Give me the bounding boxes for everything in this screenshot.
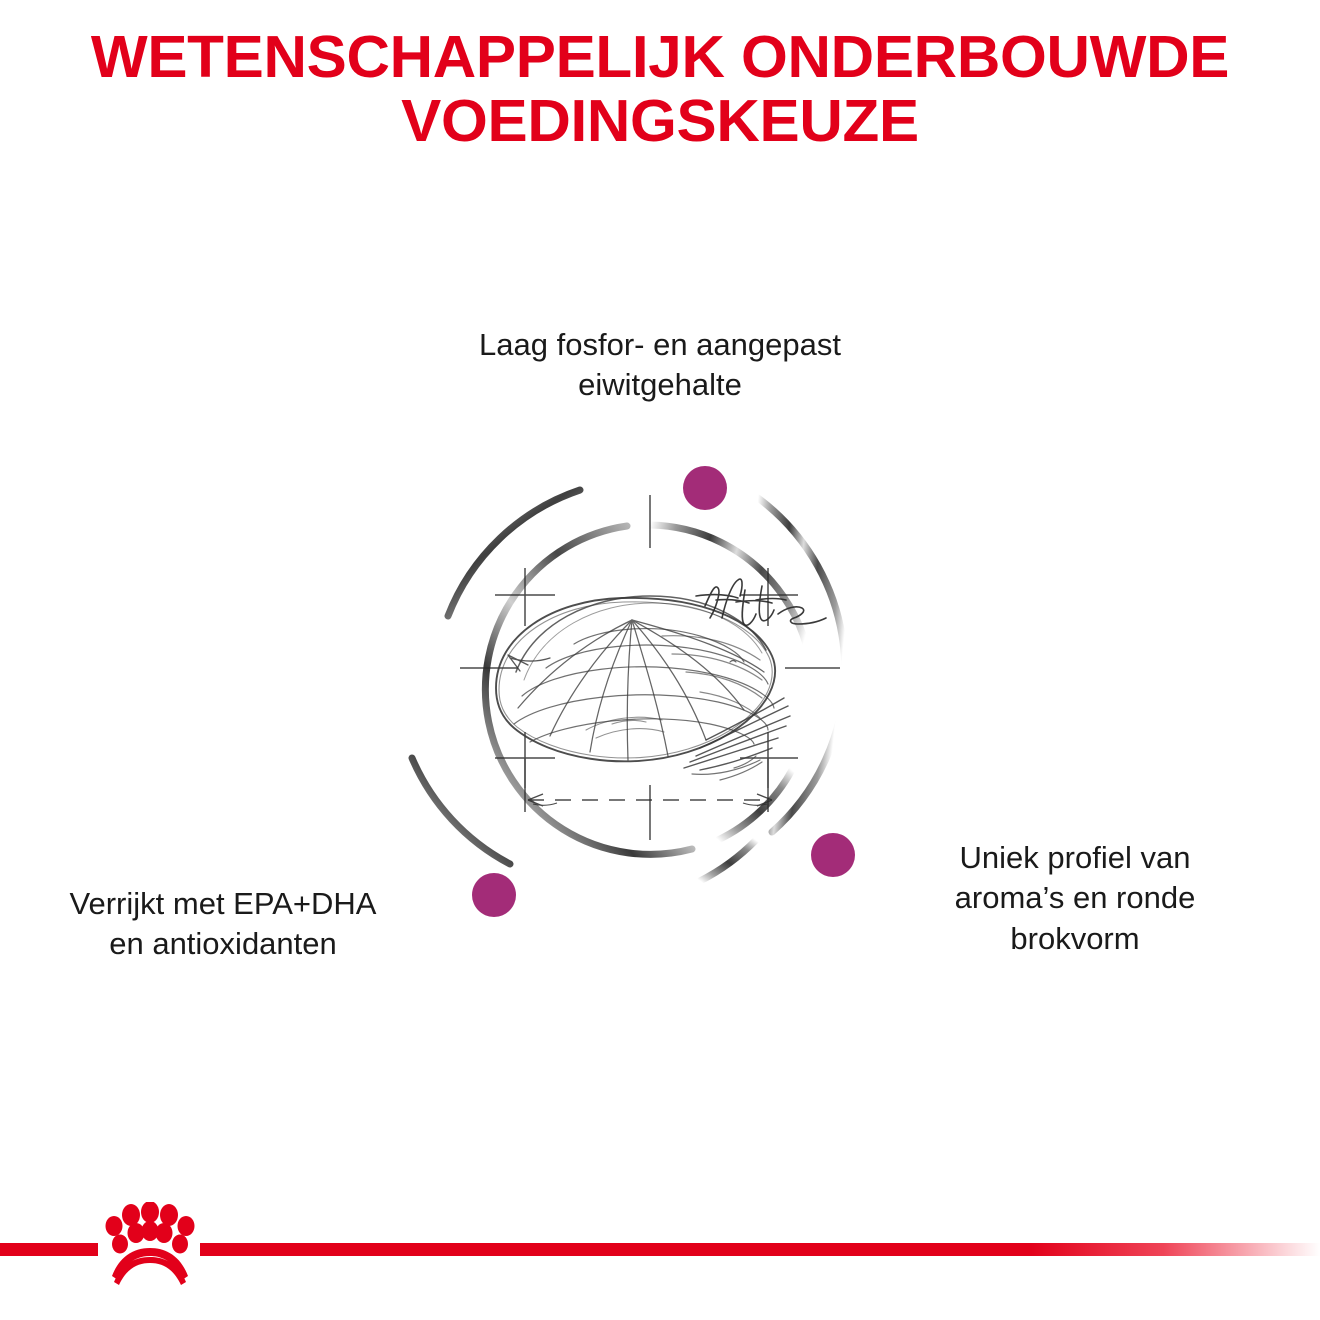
footer-bar-left xyxy=(0,1243,98,1256)
node-top xyxy=(683,466,727,510)
kibble-diagram xyxy=(400,440,900,940)
handwriting-annotation-icon xyxy=(696,579,826,625)
page-root: WETENSCHAPPELIJK ONDERBOUWDE VOEDINGSKEU… xyxy=(0,0,1320,1320)
footer xyxy=(0,1190,1320,1320)
callout-right-label: Uniek profiel van aroma’s en ronde brokv… xyxy=(905,838,1245,959)
footer-bar-right xyxy=(200,1243,1320,1256)
callout-top-label: Laag fosfor- en aangepast eiwitgehalte xyxy=(360,325,960,406)
royal-canin-crown-icon xyxy=(95,1202,205,1292)
node-bottom-left xyxy=(472,873,516,917)
page-title: WETENSCHAPPELIJK ONDERBOUWDE VOEDINGSKEU… xyxy=(0,26,1320,153)
node-bottom-right xyxy=(811,833,855,877)
callout-left-label: Verrijkt met EPA+DHA en antioxidanten xyxy=(8,884,438,965)
